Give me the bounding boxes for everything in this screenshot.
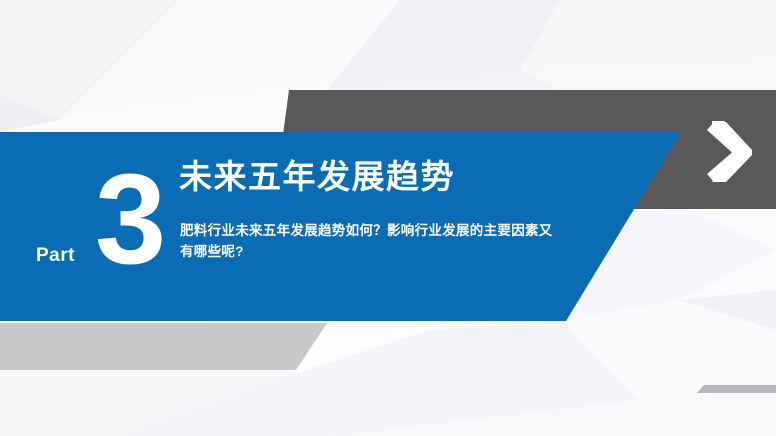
section-subtitle: 肥料行业未来五年发展趋势如何？影响行业发展的主要因素又有哪些呢? <box>180 221 560 263</box>
section-title: 未来五年发展趋势 <box>179 158 455 196</box>
chevron-right-icon[interactable] <box>706 118 758 186</box>
part-number: 3 <box>95 156 164 284</box>
slide-canvas: Part 3 未来五年发展趋势 肥料行业未来五年发展趋势如何？影响行业发展的主要… <box>0 0 776 436</box>
part-label: Part <box>36 246 75 265</box>
